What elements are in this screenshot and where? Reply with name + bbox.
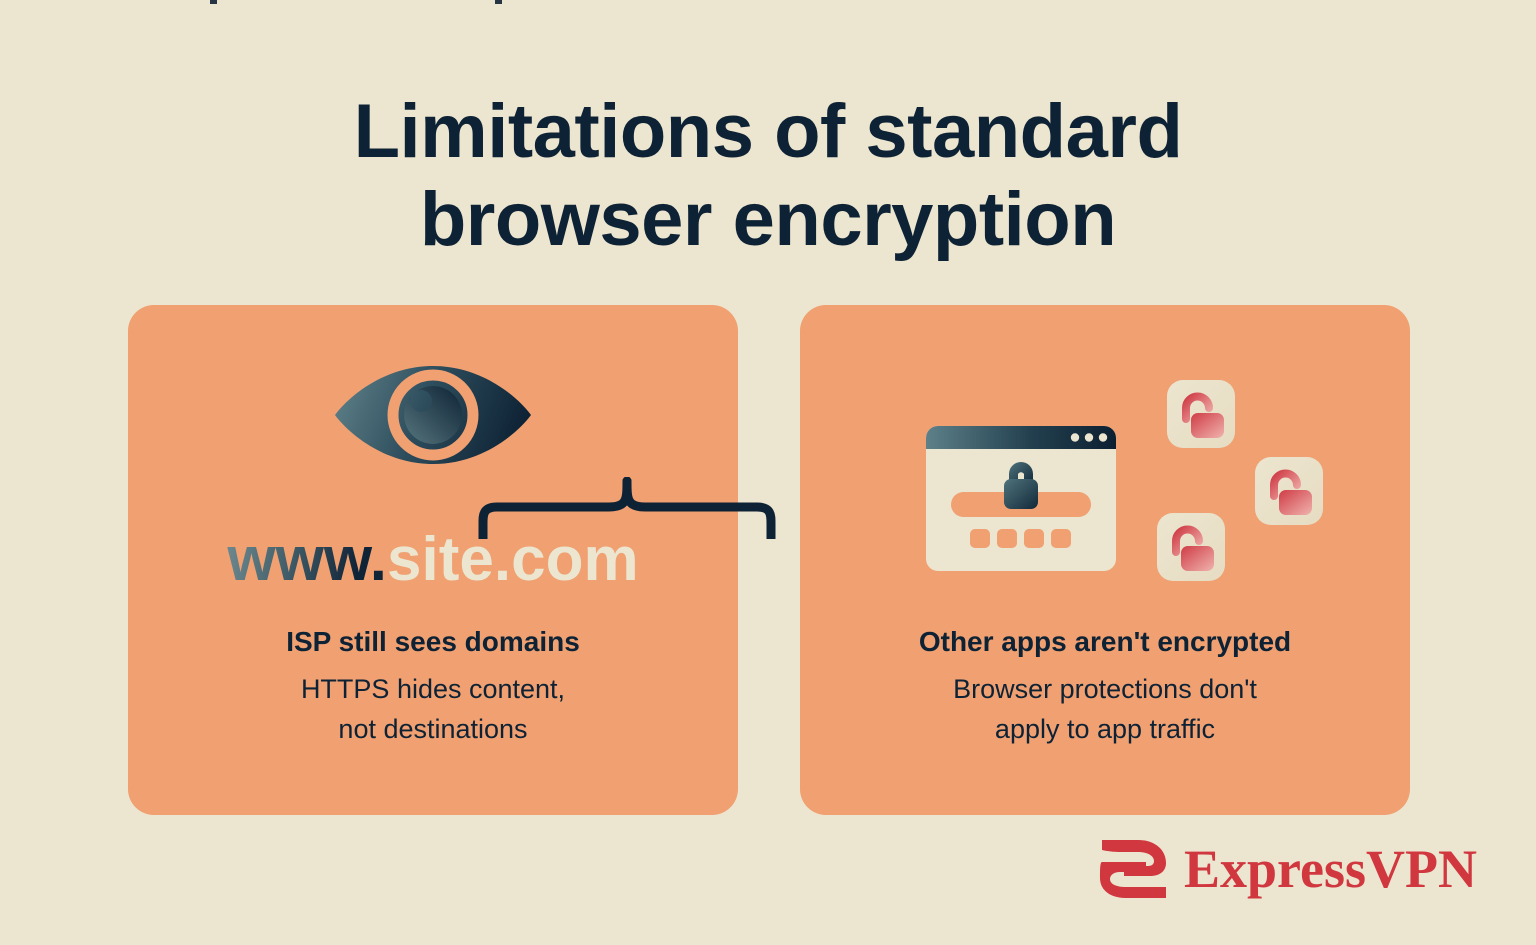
content-block-4	[1051, 529, 1071, 548]
browser-window-icon	[926, 426, 1116, 571]
card-isp-subtext-line-2: not destinations	[128, 709, 738, 749]
card-apps-caption: Other apps aren't encrypted Browser prot…	[800, 623, 1410, 749]
content-block-2	[997, 529, 1017, 548]
lock-open-icon-2	[1255, 457, 1323, 525]
window-dot-3	[1099, 433, 1107, 441]
eye-icon	[333, 360, 533, 470]
expressvpn-e-mark-icon	[1098, 838, 1170, 900]
url-host-part: www.	[227, 525, 387, 594]
open-locks-group	[1157, 370, 1337, 590]
content-block-3	[1024, 529, 1044, 548]
url-text: www.site.com	[227, 520, 638, 600]
page-title-line-1: Limitations of standard	[0, 88, 1536, 176]
cropped-text-artifact-right	[495, 0, 502, 4]
lock-closed-icon	[1004, 479, 1038, 509]
window-dot-1	[1071, 433, 1079, 441]
infographic-canvas: Limitations of standard browser encrypti…	[0, 0, 1536, 945]
expressvpn-wordmark: ExpressVPN	[1184, 842, 1477, 896]
card-apps-subtext-line-1: Browser protections don't	[800, 669, 1410, 709]
card-isp-subtext-line-1: HTTPS hides content,	[128, 669, 738, 709]
card-apps-not-encrypted: Other apps aren't encrypted Browser prot…	[800, 305, 1410, 815]
content-block-1	[970, 529, 990, 548]
lock-open-icon-3	[1157, 513, 1225, 581]
url-graphic: www.site.com	[128, 520, 738, 600]
lock-open-icon-1	[1167, 380, 1235, 448]
card-isp-caption: ISP still sees domains HTTPS hides conte…	[128, 623, 738, 749]
card-isp-subtext: HTTPS hides content, not destinations	[128, 669, 738, 749]
card-apps-subtext-line-2: apply to app traffic	[800, 709, 1410, 749]
eye-graphic	[128, 360, 738, 490]
window-dot-2	[1085, 433, 1093, 441]
card-isp-domains: www.site.com ISP still sees domains HTTP…	[128, 305, 738, 815]
card-apps-headline: Other apps aren't encrypted	[800, 623, 1410, 661]
page-title-line-2: browser encryption	[0, 176, 1536, 264]
cropped-text-artifact-left	[210, 0, 217, 4]
page-title: Limitations of standard browser encrypti…	[0, 88, 1536, 264]
url-domain-part: site.com	[387, 525, 639, 594]
expressvpn-logo: ExpressVPN	[1098, 838, 1477, 900]
card-isp-headline: ISP still sees domains	[128, 623, 738, 661]
card-apps-subtext: Browser protections don't apply to app t…	[800, 669, 1410, 749]
